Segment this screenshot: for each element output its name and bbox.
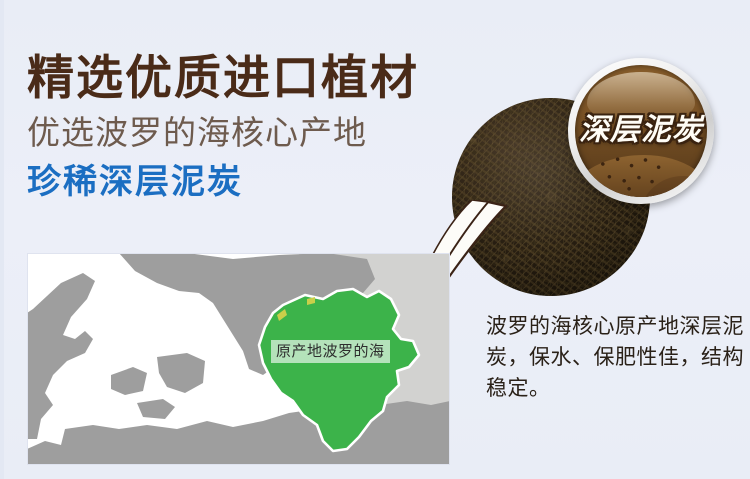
map-origin-label: 原产地波罗的海 [271,340,390,363]
page-subtitle: 优选波罗的海核心产地 [27,112,497,154]
promo-banner: 精选优质进口植材 优选波罗的海核心产地 珍稀深层泥炭 [0,0,750,479]
headline-block: 精选优质进口植材 优选波罗的海核心产地 珍稀深层泥炭 [27,50,497,204]
description-text: 波罗的海核心原产地深层泥炭，保水、保肥性佳，结构稳定。 [486,311,744,404]
badge-label: 深层泥炭 [575,113,707,147]
page-title: 精选优质进口植材 [27,50,497,106]
page-accent-heading: 珍稀深层泥炭 [27,160,497,204]
badge-soil-specks [593,152,675,192]
badge-inner: 深层泥炭 [575,65,707,197]
deep-peat-badge: 深层泥炭 [568,58,714,204]
background-left-edge [0,0,4,479]
